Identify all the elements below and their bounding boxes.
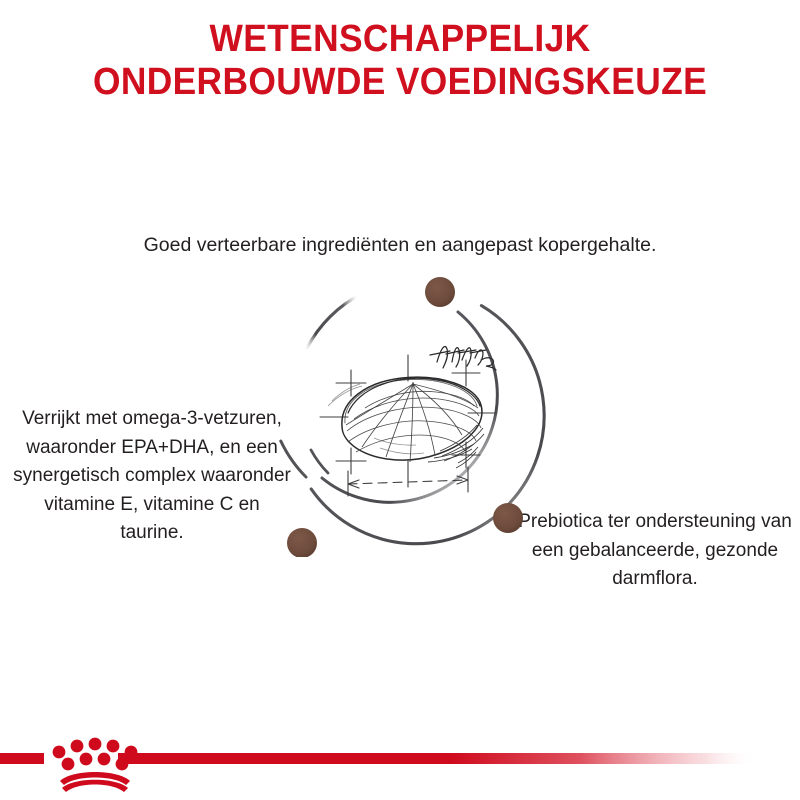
red-footer-bar-left <box>0 753 44 764</box>
caption-right-prebiotics: Prebiotica ter ondersteuning van een geb… <box>516 508 794 594</box>
poster-root: WETENSCHAPPELIJK ONDERBOUWDE VOEDINGSKEU… <box>0 0 800 800</box>
kibble-dot-top-right <box>425 277 455 307</box>
page-title-line-1: WETENSCHAPPELIJK <box>28 18 772 61</box>
royal-canin-crown-logo <box>53 738 138 792</box>
kibble-technical-sketch-diagram <box>262 265 554 557</box>
footer <box>0 735 800 800</box>
page-title: WETENSCHAPPELIJK ONDERBOUWDE VOEDINGSKEU… <box>0 18 800 103</box>
page-title-line-2: ONDERBOUWDE VOEDINGSKEUZE <box>28 61 772 104</box>
kibble-sketch-icon <box>320 347 496 496</box>
caption-left-omega3: Verrijkt met omega-3-vetzuren, waaronder… <box>12 405 292 548</box>
red-footer-bar-right <box>118 753 758 764</box>
handwritten-annotation-icon <box>430 347 496 370</box>
kibble-dot-bottom-right <box>493 503 523 533</box>
kibble-dot-bottom-left <box>287 528 317 557</box>
caption-top-digestibility: Goed verteerbare ingrediënten en aangepa… <box>60 232 740 260</box>
